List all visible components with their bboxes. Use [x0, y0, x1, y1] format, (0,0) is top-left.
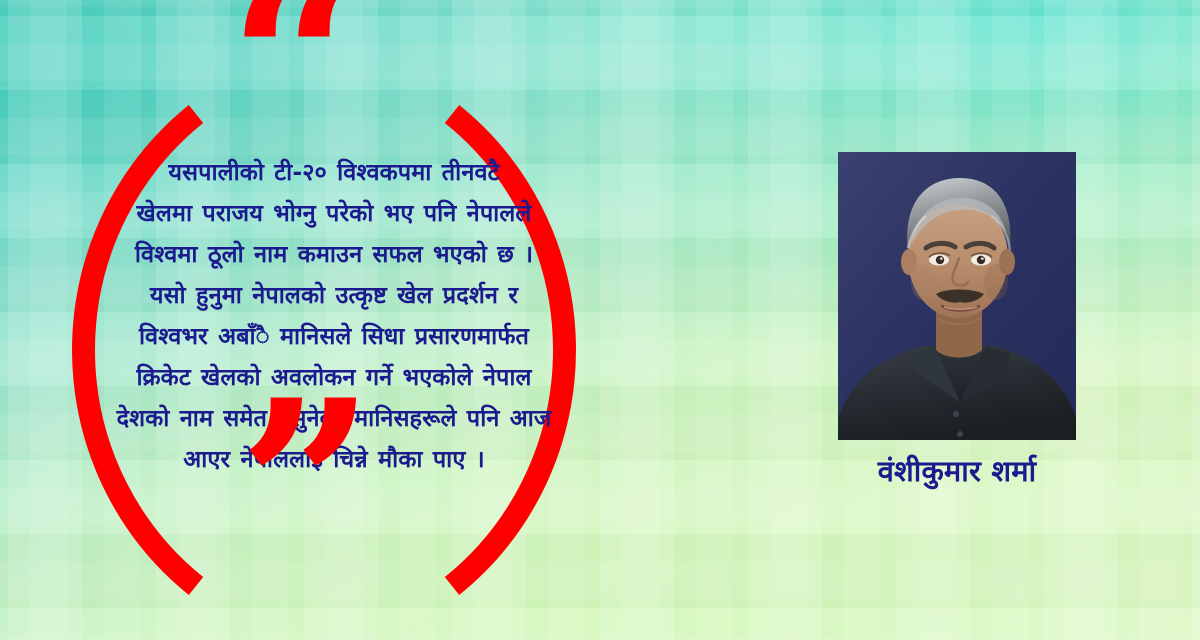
closing-quote-icon: ” — [238, 370, 377, 608]
quote-line: खेलमा पराजय भोग्नु परेको भए पनि नेपालले — [48, 193, 620, 234]
quote-line: विश्वमा ठूलो नाम कमाउन सफल भएको छ । — [48, 234, 620, 275]
author-portrait-illustration — [838, 152, 1076, 440]
quote-line: यसपालीको टी-२० विश्वकपमा तीनवटै — [48, 152, 620, 193]
quote-line: यसो हुनुमा नेपालको उत्कृष्ट खेल प्रदर्शन… — [48, 275, 620, 316]
author-name: वंशीकुमार शर्मा — [806, 452, 1108, 490]
author-photo — [838, 152, 1076, 440]
quote-card: “ यसपालीको टी-२० विश्वकपमा तीनवटै खेलमा … — [0, 0, 1200, 640]
